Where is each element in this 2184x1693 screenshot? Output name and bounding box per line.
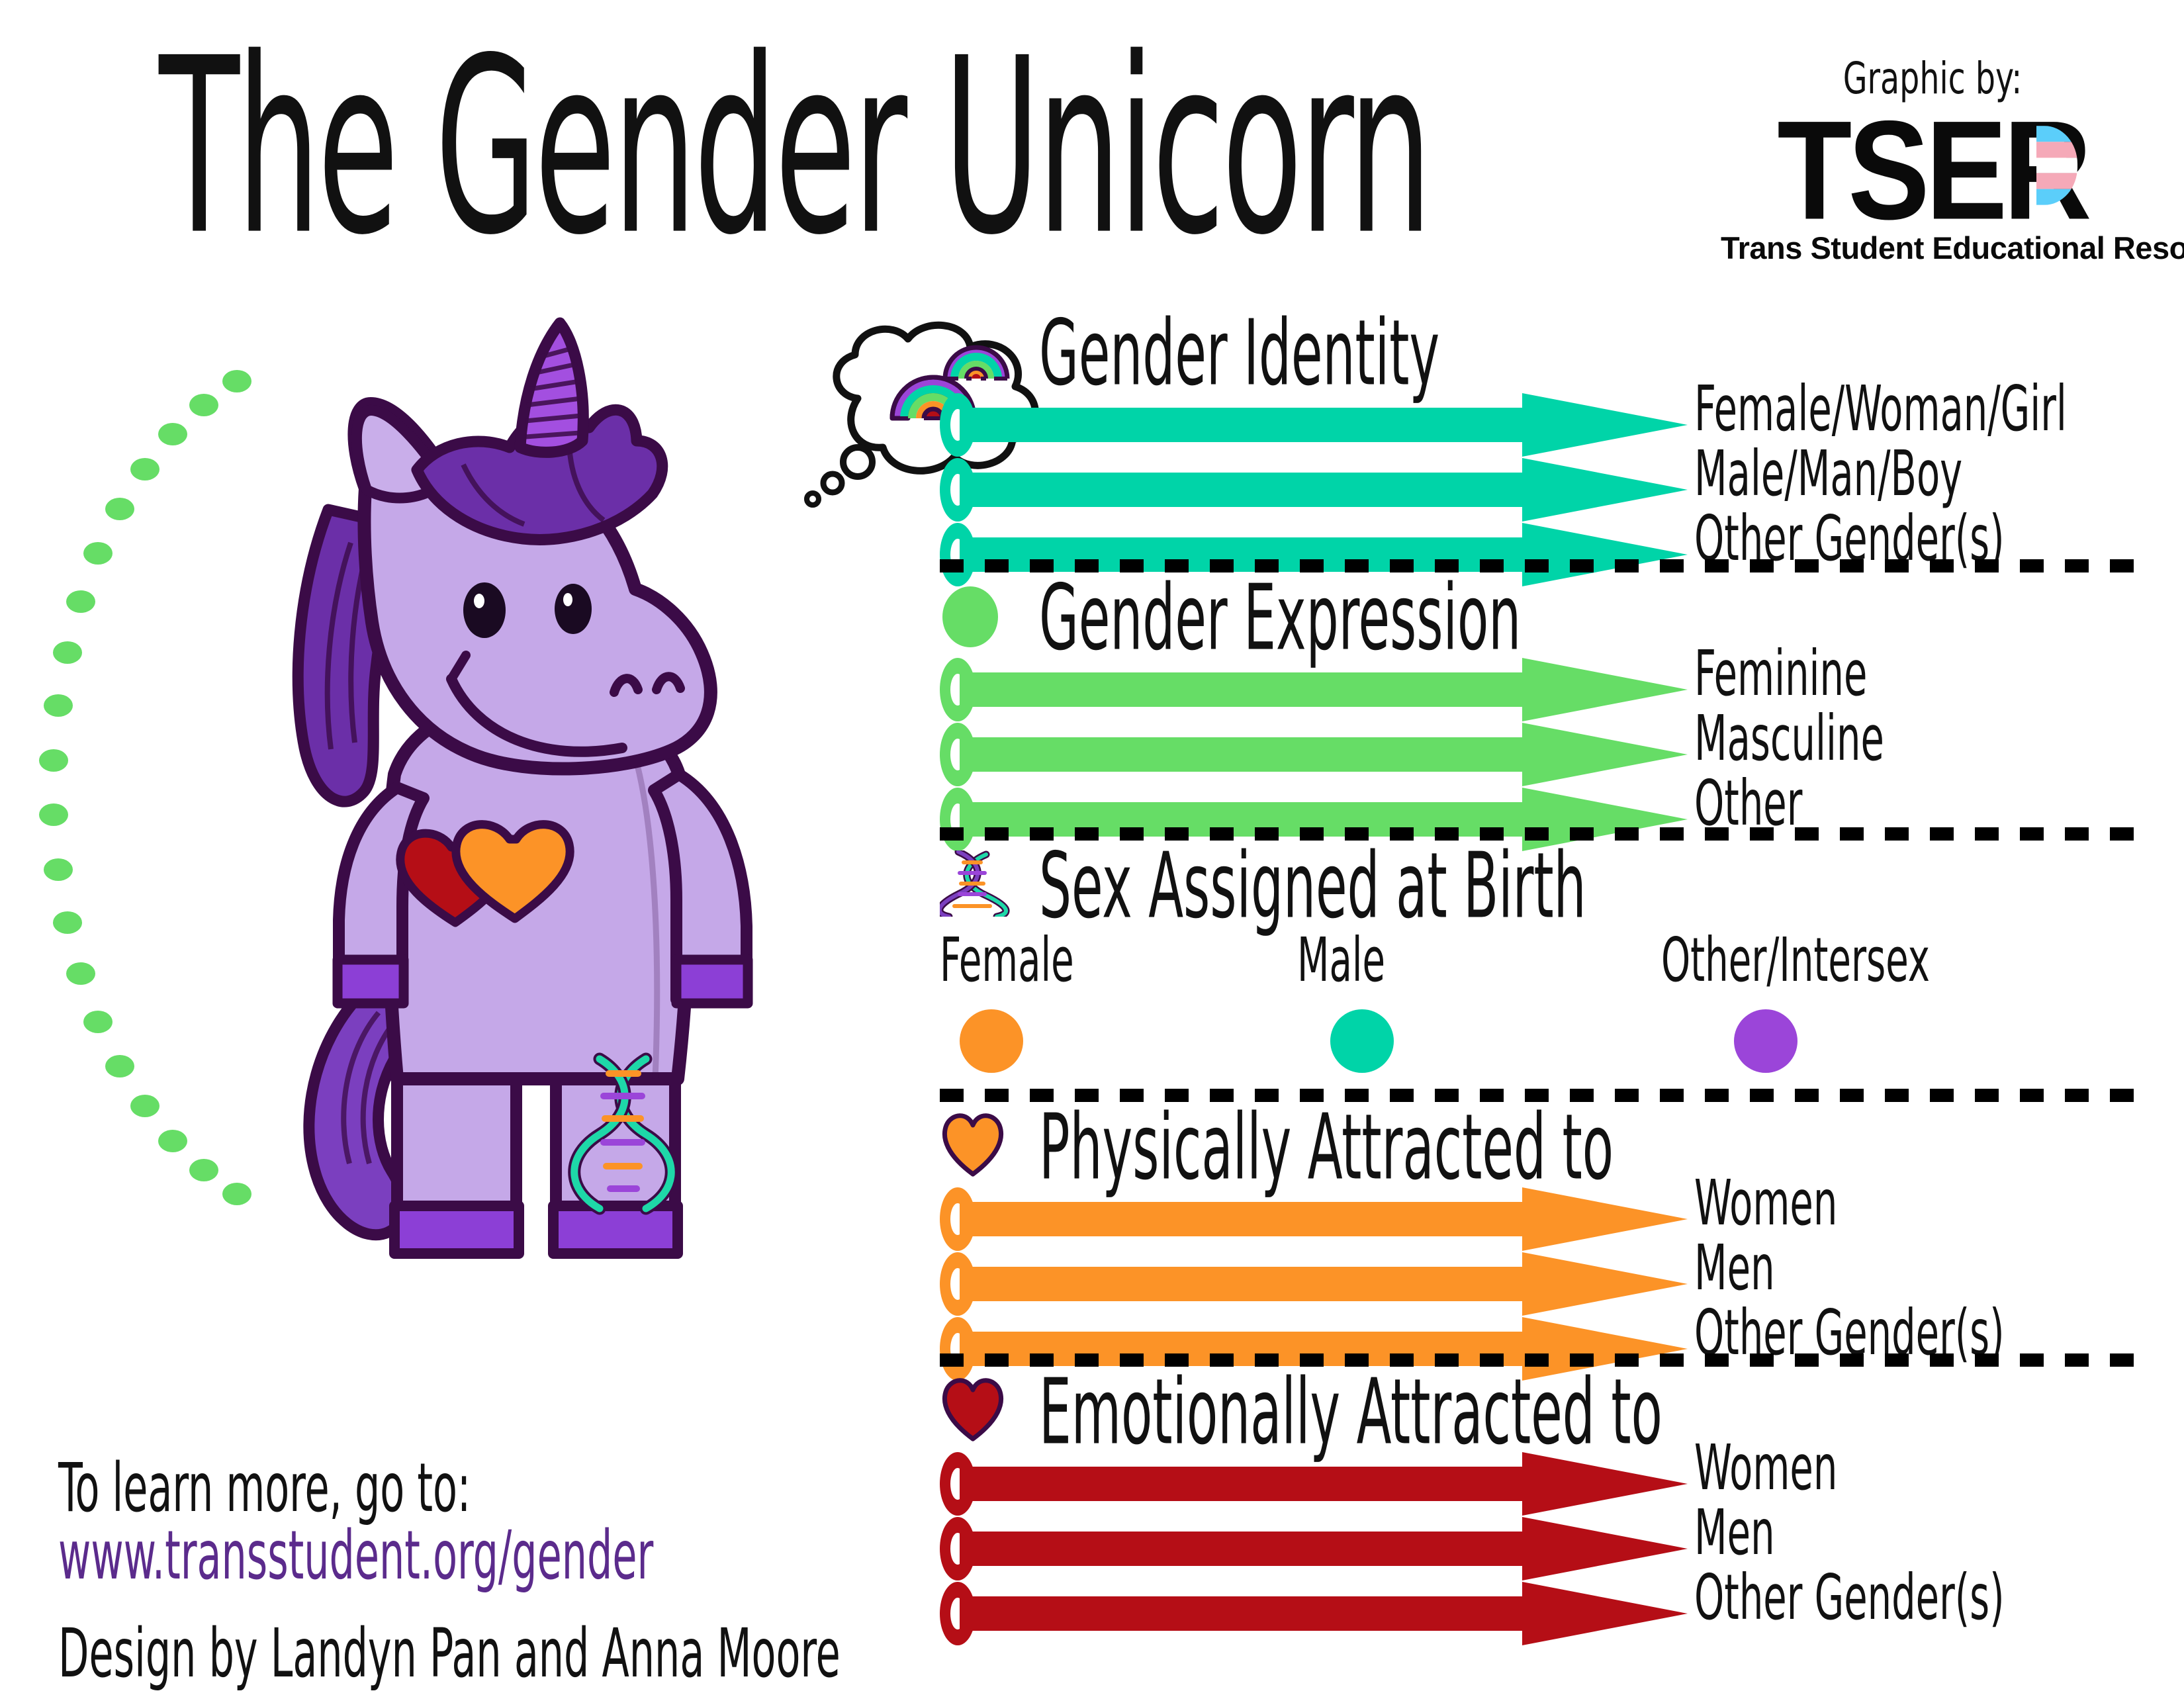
arrow-shaft: [960, 1267, 1522, 1301]
infographic-canvas: The Gender Unicorn Graphic by: TSER Tran…: [0, 0, 2184, 1688]
page-title: The Gender Unicorn: [159, 26, 1430, 269]
unicorn-sleeve-left: [338, 960, 404, 1003]
thought-dot-large: [843, 447, 872, 477]
spectrum-label: Other: [1694, 773, 1802, 835]
section-sex-assigned-at-birth: Sex Assigned at BirthFemaleMaleOther/Int…: [940, 850, 2144, 1102]
arrow-shaft: [960, 1596, 1522, 1631]
orange-heart-icon: [940, 1112, 1013, 1178]
arrow-head: [1522, 458, 1688, 522]
section-divider: [940, 1089, 2138, 1102]
rainbow-icon: [940, 318, 1013, 384]
arrow-shaft: [960, 1532, 1522, 1566]
decorative-dot: [44, 858, 73, 881]
arrow-shaft: [960, 1467, 1522, 1501]
arrow-head: [1522, 723, 1688, 786]
arrow-head: [1522, 658, 1688, 721]
section-title: Gender Identity: [1039, 308, 1439, 399]
arrow-shaft: [960, 1202, 1522, 1236]
spectrum-arrow-row[interactable]: Other Gender(s): [940, 1586, 2144, 1641]
decorative-dot: [83, 1011, 113, 1033]
sab-option[interactable]: Female: [940, 930, 1112, 1073]
section-header: Sex Assigned at Birth: [940, 850, 2144, 930]
learn-more-label: To learn more, go to:: [58, 1455, 471, 1522]
decorative-dot: [130, 1095, 159, 1117]
thought-dot-medium: [823, 474, 842, 492]
decorative-dot: [53, 641, 82, 664]
sab-label: Female: [940, 930, 1074, 991]
decorative-dot: [39, 749, 68, 772]
unicorn-eye-left: [463, 582, 506, 638]
tser-wordmark: TSER: [1777, 99, 2087, 244]
section-header: Gender Expression: [940, 582, 2144, 662]
spectrum-label: Women: [1694, 1173, 1837, 1235]
sab-label: Other/Intersex: [1661, 930, 1930, 991]
spectrum-label: Men: [1694, 1502, 1775, 1565]
thought-dot-small: [807, 493, 819, 505]
arrow-head: [1522, 523, 1688, 586]
spectrum-label: Male/Man/Boy: [1694, 443, 1962, 506]
unicorn-eye-right: [555, 584, 592, 634]
decorative-dot: [39, 803, 68, 826]
dna-icon: [940, 850, 1013, 917]
section-title: Gender Expression: [1039, 573, 1521, 664]
arrow-head: [1522, 1187, 1688, 1251]
sab-dot: [1734, 1009, 1797, 1073]
unicorn-cuff-left: [394, 1206, 519, 1254]
spectrum-label: Feminine: [1694, 643, 1867, 706]
spectrum-arrow-row[interactable]: Masculine: [940, 727, 2144, 782]
section-title: Physically Attracted to: [1039, 1103, 1614, 1193]
spectrum-arrow-row[interactable]: Feminine: [940, 662, 2144, 717]
green-circle-icon: [940, 582, 1013, 649]
decorative-dot: [53, 911, 82, 934]
unicorn-sleeve-right: [676, 960, 748, 1003]
decorative-dot: [66, 962, 95, 985]
section-gender-identity: Gender IdentityFemale/Woman/GirlMale/Man…: [940, 318, 2144, 592]
spectrum-label: Women: [1694, 1438, 1837, 1500]
sex-assigned-dots: FemaleMaleOther/Intersex: [940, 930, 2144, 1102]
section-title: Sex Assigned at Birth: [1039, 841, 1586, 932]
decorative-dot: [83, 542, 113, 565]
section-emotionally-attracted-to: Emotionally Attracted toWomenMenOther Ge…: [940, 1377, 2144, 1651]
sab-dot: [1330, 1009, 1394, 1073]
spectrum-arrow-row[interactable]: Women: [940, 1191, 2144, 1247]
section-divider: [940, 559, 2138, 572]
red-heart-icon: [940, 1377, 1013, 1443]
website-url-link[interactable]: www.transstudent.org/gender: [58, 1522, 653, 1589]
section-divider: [940, 1353, 2138, 1367]
sab-option[interactable]: Male: [1297, 930, 1410, 1073]
section-divider: [940, 827, 2138, 841]
arrow-head: [1522, 1452, 1688, 1516]
arrow-head: [1522, 1517, 1688, 1580]
section-physically-attracted-to: Physically Attracted toWomenMenOther Gen…: [940, 1112, 2144, 1386]
section-header: Emotionally Attracted to: [940, 1377, 2144, 1456]
decorative-dot: [130, 458, 159, 480]
spectrum-arrow-row[interactable]: Female/Woman/Girl: [940, 397, 2144, 453]
arrow-head: [1522, 393, 1688, 457]
arrow-shaft: [960, 473, 1522, 507]
decorative-dot: [105, 1055, 134, 1077]
section-header: Physically Attracted to: [940, 1112, 2144, 1191]
sab-label: Male: [1297, 930, 1385, 991]
arrow-shaft: [960, 408, 1522, 442]
arrow-shaft: [960, 737, 1522, 772]
design-credit-label: Design by Landyn Pan and Anna Moore: [58, 1620, 841, 1687]
sab-option[interactable]: Other/Intersex: [1661, 930, 2005, 1073]
decorative-dot: [66, 590, 95, 613]
spectrum-label: Masculine: [1694, 708, 1884, 770]
section-title: Emotionally Attracted to: [1039, 1367, 1662, 1458]
decorative-dot: [44, 694, 73, 717]
spectrum-label: Men: [1694, 1238, 1775, 1300]
tser-credit-block: Graphic by: TSER Trans Student Education…: [1721, 53, 2144, 266]
unicorn-cuff-right: [553, 1206, 678, 1254]
unicorn-illustration: [199, 311, 900, 1396]
arrow-shaft: [960, 672, 1522, 707]
section-gender-expression: Gender ExpressionFeminineMasculineOther: [940, 582, 2144, 856]
spectrum-arrow-row[interactable]: Women: [940, 1456, 2144, 1512]
sab-dot: [960, 1009, 1023, 1073]
spectrum-label: Other Gender(s): [1694, 1567, 2005, 1629]
decorative-dot: [158, 1130, 187, 1152]
arrow-head: [1522, 1252, 1688, 1316]
arrow-head: [1522, 1582, 1688, 1645]
spectrum-label: Female/Woman/Girl: [1694, 379, 2067, 441]
decorative-dot: [158, 423, 187, 445]
decorative-dot: [105, 498, 134, 520]
